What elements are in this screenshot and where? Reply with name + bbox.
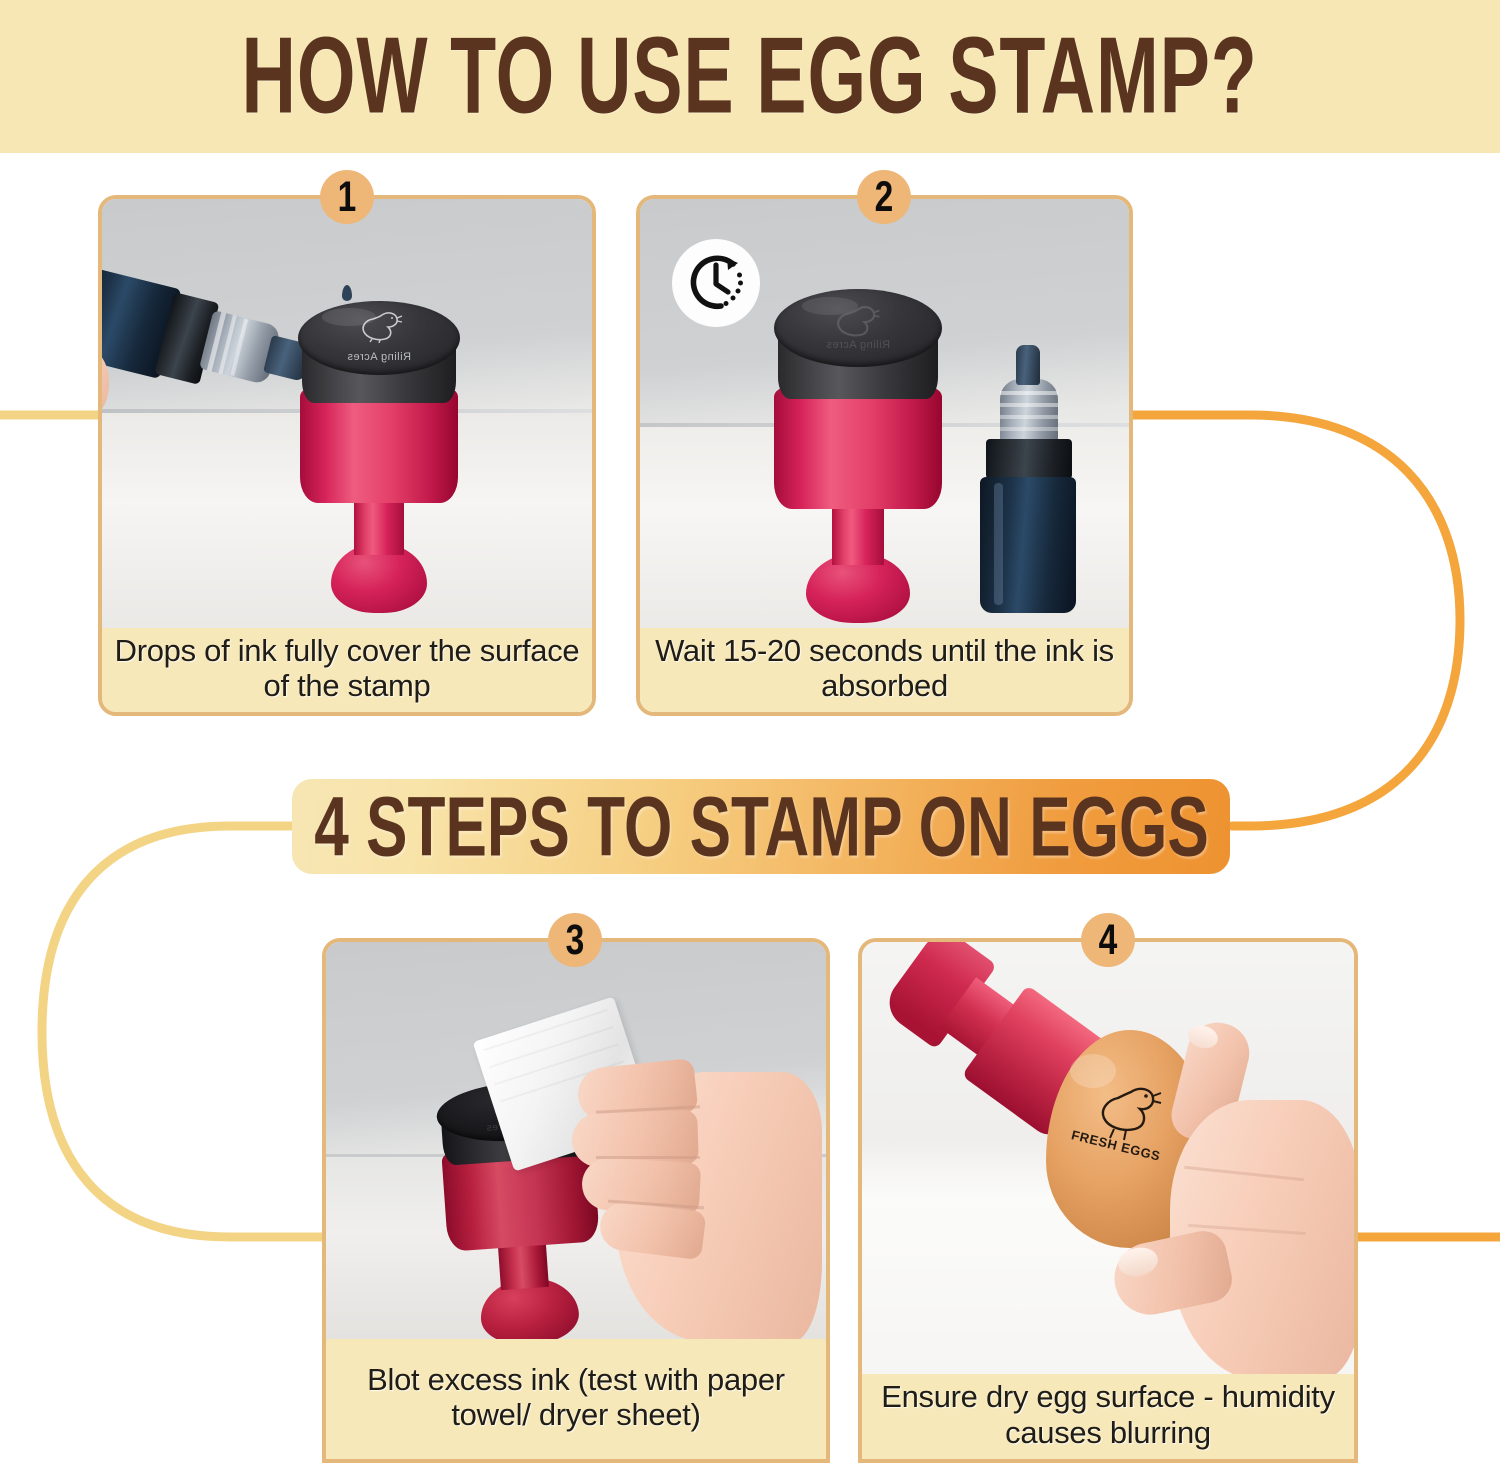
step-3-caption: Blot excess ink (test with paper towel/ … — [336, 1362, 816, 1433]
hand — [1084, 1022, 1354, 1382]
header-band: HOW TO USE EGG STAMP? — [0, 0, 1500, 153]
step-badge-2-number: 2 — [875, 176, 894, 219]
step-1-caption: Drops of ink fully cover the surface of … — [112, 633, 582, 704]
ink-bottle — [972, 327, 1092, 627]
step-4-caption: Ensure dry egg surface - humidity causes… — [872, 1379, 1344, 1450]
page-title: HOW TO USE EGG STAMP? — [242, 15, 1258, 139]
stamp-face: Riling Acres — [298, 301, 460, 375]
step-4-photo: FRESH EGGS — [862, 942, 1354, 1382]
step-panel-4: FRESH EGGS Ensure dry egg surface - humi… — [858, 938, 1358, 1463]
step-badge-4: 4 — [1081, 913, 1135, 967]
stamp-brand-label: Riling Acres — [774, 339, 942, 351]
step-badge-4-number: 4 — [1099, 919, 1118, 962]
hand — [542, 1020, 826, 1347]
step-4-caption-box: Ensure dry egg surface - humidity causes… — [862, 1374, 1354, 1459]
step-panel-1: Riling Acres Drops of ink fully cover th… — [98, 195, 596, 716]
step-badge-2: 2 — [857, 170, 911, 224]
clock-icon — [683, 250, 749, 316]
clock-icon-container — [672, 239, 760, 327]
step-3-caption-box: Blot excess ink (test with paper towel/ … — [326, 1339, 826, 1459]
arc-right — [1133, 415, 1460, 826]
step-2-photo: Riling Acres — [640, 199, 1129, 636]
step-panel-3: Riling Acres Blot excess ink (test with — [322, 938, 830, 1463]
egg-stamp: Riling Acres — [762, 281, 952, 631]
step-badge-3: 3 — [548, 913, 602, 967]
mid-section-banner: 4 STEPS TO STAMP ON EGGS — [292, 779, 1230, 874]
step-3-photo: Riling Acres — [326, 942, 826, 1347]
step-panel-2: Riling Acres Wait 15-20 seconds until th… — [636, 195, 1133, 716]
stamp-brand-label: Riling Acres — [298, 351, 460, 363]
step-2-caption: Wait 15-20 seconds until the ink is abso… — [650, 633, 1119, 704]
ink-droplet — [342, 285, 352, 301]
egg-stamp: Riling Acres — [288, 295, 468, 625]
step-1-caption-box: Drops of ink fully cover the surface of … — [102, 628, 592, 712]
mid-section-banner-text: 4 STEPS TO STAMP ON EGGS — [314, 778, 1209, 875]
step-badge-3-number: 3 — [566, 919, 585, 962]
step-badge-1-number: 1 — [338, 176, 357, 219]
arc-left — [42, 826, 322, 1237]
step-2-caption-box: Wait 15-20 seconds until the ink is abso… — [640, 628, 1129, 712]
step-badge-1: 1 — [320, 170, 374, 224]
stamp-face: Riling Acres — [774, 289, 942, 367]
step-1-photo: Riling Acres — [102, 199, 592, 636]
